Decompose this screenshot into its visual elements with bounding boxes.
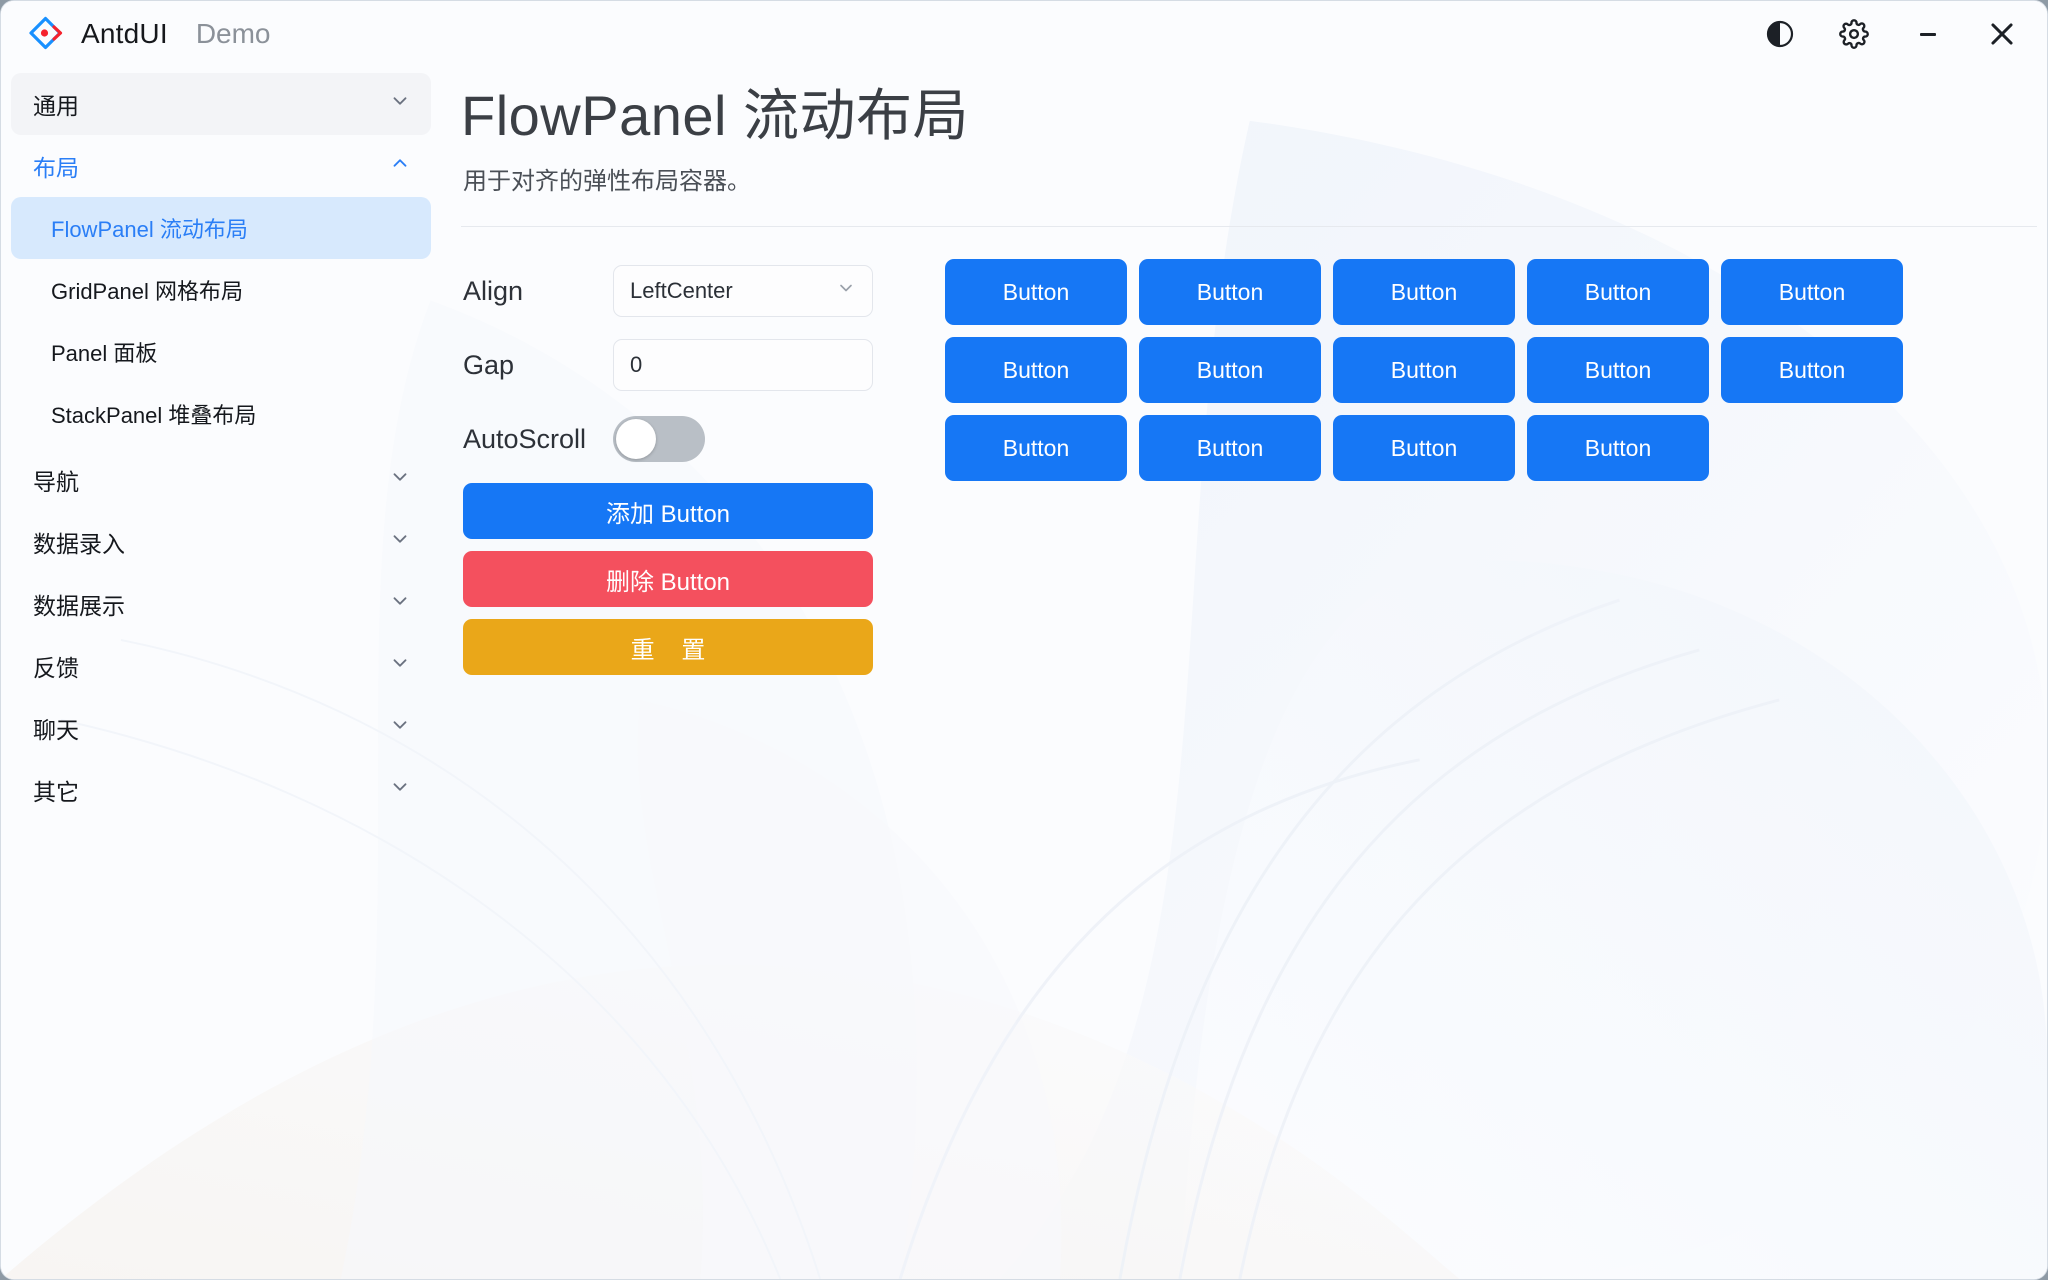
antdui-diamond-logo-icon [27, 15, 65, 53]
app-window: AntdUI Demo [0, 0, 2048, 1280]
sidebar-group-tongyong[interactable]: 通用 [11, 73, 431, 135]
sidebar-group-label: 聊天 [33, 711, 79, 745]
flow-button[interactable]: Button [1527, 415, 1709, 481]
flow-button[interactable]: Button [1139, 337, 1321, 403]
sidebar-item-stackpanel[interactable]: StackPanel 堆叠布局 [11, 383, 431, 445]
flow-button[interactable]: Button [1721, 259, 1903, 325]
header-divider [461, 226, 2037, 227]
chevron-down-icon [389, 590, 411, 618]
sidebar-group-label: 布局 [33, 149, 79, 183]
title-bar: AntdUI Demo [1, 1, 2047, 67]
brand: AntdUI Demo [27, 15, 271, 53]
sidebar-item-label: GridPanel 网格布局 [51, 274, 243, 306]
sidebar-item-panel[interactable]: Panel 面板 [11, 321, 431, 383]
sidebar-group-label: 反馈 [33, 649, 79, 683]
gap-value: 0 [630, 352, 856, 378]
settings-button[interactable] [1817, 5, 1891, 63]
close-icon [1985, 17, 2019, 51]
controls-column: Align LeftCenter Gap 0 [453, 259, 873, 675]
flow-button[interactable]: Button [1333, 259, 1515, 325]
gap-row: Gap 0 [463, 333, 873, 397]
flow-button[interactable]: Button [1333, 337, 1515, 403]
minimize-icon [1913, 19, 1943, 49]
sidebar-group-label: 导航 [33, 463, 79, 497]
sidebar-group-label: 数据录入 [33, 525, 125, 559]
sidebar-item-label: StackPanel 堆叠布局 [51, 398, 256, 430]
sidebar-item-flowpanel[interactable]: FlowPanel 流动布局 [11, 197, 431, 259]
flow-button[interactable]: Button [945, 259, 1127, 325]
chevron-down-icon [389, 528, 411, 556]
toggle-knob [616, 419, 656, 459]
flow-button[interactable]: Button [945, 415, 1127, 481]
close-button[interactable] [1965, 5, 2039, 63]
sidebar-group-liaotian[interactable]: 聊天 [11, 697, 431, 759]
flow-button[interactable]: Button [1333, 415, 1515, 481]
flow-panel-wrapper: Button Button Button Button Button Butto… [873, 259, 2047, 675]
align-row: Align LeftCenter [463, 259, 873, 323]
chevron-down-icon [389, 90, 411, 118]
window-body: 通用 布局 FlowPanel 流动布局 GridPanel 网格布局 Pane… [1, 67, 2047, 1280]
minimize-button[interactable] [1891, 5, 1965, 63]
sidebar-group-label: 其它 [33, 773, 79, 807]
chevron-down-icon [389, 466, 411, 494]
flow-button[interactable]: Button [945, 337, 1127, 403]
sidebar-group-shujuluru[interactable]: 数据录入 [11, 511, 431, 573]
gap-input[interactable]: 0 [613, 339, 873, 391]
sidebar-group-daohang[interactable]: 导航 [11, 449, 431, 511]
gap-label: Gap [463, 350, 613, 381]
flow-button[interactable]: Button [1139, 259, 1321, 325]
delete-button-action[interactable]: 删除 Button [463, 551, 873, 607]
page-title: FlowPanel 流动布局 [453, 83, 2047, 149]
chevron-down-icon [389, 652, 411, 680]
reset-button-action[interactable]: 重 置 [463, 619, 873, 675]
align-select[interactable]: LeftCenter [613, 265, 873, 317]
sidebar-item-label: FlowPanel 流动布局 [51, 212, 248, 244]
sidebar-item-label: Panel 面板 [51, 336, 157, 368]
sidebar-group-label: 通用 [33, 87, 79, 121]
gear-icon [1839, 19, 1869, 49]
autoscroll-label: AutoScroll [463, 424, 613, 455]
flow-panel: Button Button Button Button Button Butto… [945, 259, 1935, 481]
autoscroll-row: AutoScroll [463, 407, 873, 471]
sidebar-nav: 通用 布局 FlowPanel 流动布局 GridPanel 网格布局 Pane… [1, 67, 441, 1280]
add-button-action[interactable]: 添加 Button [463, 483, 873, 539]
flow-button[interactable]: Button [1721, 337, 1903, 403]
chevron-up-icon [389, 152, 411, 180]
autoscroll-toggle[interactable] [613, 416, 705, 462]
flow-button[interactable]: Button [1139, 415, 1321, 481]
page-description: 用于对齐的弹性布局容器。 [453, 161, 2047, 196]
flow-button[interactable]: Button [1527, 337, 1709, 403]
align-selected-value: LeftCenter [630, 278, 836, 304]
theme-toggle-button[interactable] [1743, 5, 1817, 63]
sidebar-group-qita[interactable]: 其它 [11, 759, 431, 821]
main-content: FlowPanel 流动布局 用于对齐的弹性布局容器。 Align LeftCe… [441, 67, 2047, 1280]
app-name: AntdUI [81, 18, 168, 50]
demo-content: Align LeftCenter Gap 0 [453, 259, 2047, 675]
sidebar-group-shujuzhanshi[interactable]: 数据展示 [11, 573, 431, 635]
flow-button[interactable]: Button [1527, 259, 1709, 325]
align-label: Align [463, 276, 613, 307]
sidebar-group-buju[interactable]: 布局 [11, 135, 431, 197]
contrast-circle-icon [1765, 19, 1795, 49]
chevron-down-icon [836, 278, 856, 304]
app-subtitle: Demo [196, 18, 271, 50]
sidebar-group-label: 数据展示 [33, 587, 125, 621]
chevron-down-icon [389, 714, 411, 742]
chevron-down-icon [389, 776, 411, 804]
sidebar-item-gridpanel[interactable]: GridPanel 网格布局 [11, 259, 431, 321]
sidebar-group-fankui[interactable]: 反馈 [11, 635, 431, 697]
